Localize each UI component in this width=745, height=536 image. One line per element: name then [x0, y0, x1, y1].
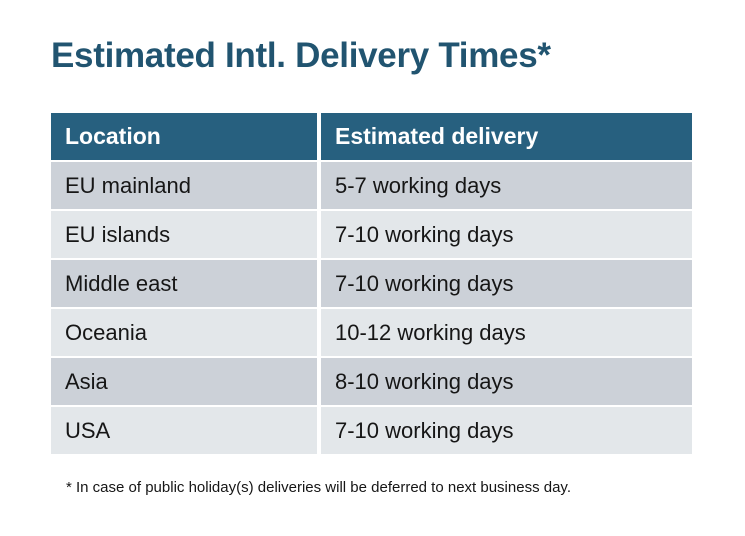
delivery-times-panel: Estimated Intl. Delivery Times* Location… — [0, 0, 745, 536]
table-row: Asia 8-10 working days — [51, 358, 692, 405]
cell-location: Middle east — [51, 260, 317, 307]
footnote: * In case of public holiday(s) deliverie… — [66, 479, 571, 496]
cell-location: USA — [51, 407, 317, 454]
cell-estimated-delivery: 7-10 working days — [321, 260, 692, 307]
table-row: EU islands 7-10 working days — [51, 211, 692, 258]
table-row: Middle east 7-10 working days — [51, 260, 692, 307]
cell-estimated-delivery: 7-10 working days — [321, 211, 692, 258]
cell-estimated-delivery: 10-12 working days — [321, 309, 692, 356]
cell-location: Oceania — [51, 309, 317, 356]
cell-estimated-delivery: 5-7 working days — [321, 162, 692, 209]
page-title: Estimated Intl. Delivery Times* — [51, 36, 551, 76]
table-row: Oceania 10-12 working days — [51, 309, 692, 356]
cell-location: Asia — [51, 358, 317, 405]
table-row: EU mainland 5-7 working days — [51, 162, 692, 209]
cell-estimated-delivery: 8-10 working days — [321, 358, 692, 405]
delivery-times-table: Location Estimated delivery EU mainland … — [51, 113, 692, 456]
column-header-location: Location — [51, 113, 317, 160]
cell-location: EU mainland — [51, 162, 317, 209]
cell-estimated-delivery: 7-10 working days — [321, 407, 692, 454]
table-header-row: Location Estimated delivery — [51, 113, 692, 160]
table-row: USA 7-10 working days — [51, 407, 692, 454]
column-header-estimated-delivery: Estimated delivery — [321, 113, 692, 160]
cell-location: EU islands — [51, 211, 317, 258]
